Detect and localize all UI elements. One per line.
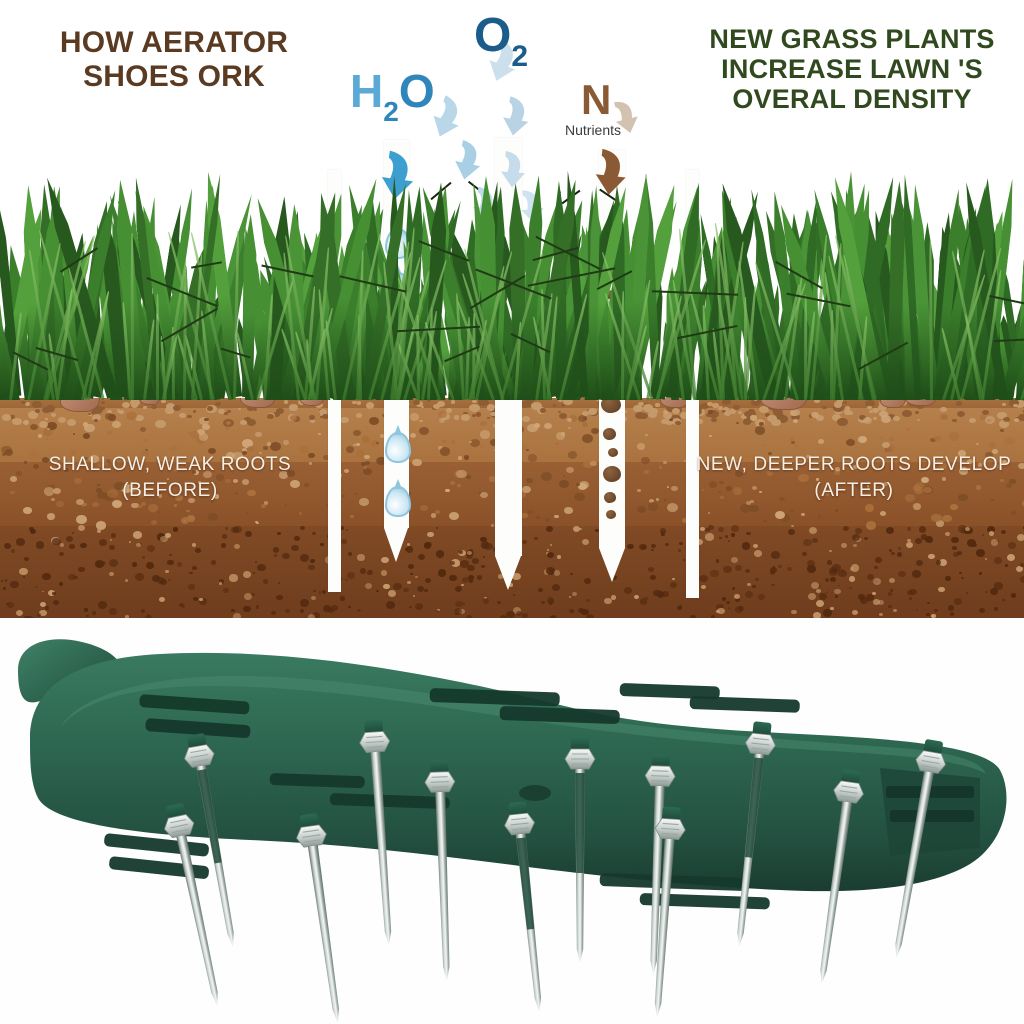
water-label-o: O	[399, 65, 435, 117]
aeration-infographic-panel: SHALLOW, WEAK ROOTS (BEFORE) NEW, DEEPER…	[0, 0, 1024, 618]
water-label-h: H	[350, 65, 383, 117]
flow-arrow	[497, 93, 538, 141]
flow-arrow	[497, 149, 532, 191]
oxygen-label: O2	[474, 8, 528, 74]
spike-shaft	[308, 845, 343, 1024]
grass-blade-highlight	[621, 291, 625, 400]
infographic-page: SHALLOW, WEAK ROOTS (BEFORE) NEW, DEEPER…	[0, 0, 1024, 1024]
water-label-sub: 2	[383, 96, 399, 127]
caption-before: SHALLOW, WEAK ROOTS (BEFORE)	[10, 452, 330, 504]
shoe-strap-slot	[690, 696, 800, 713]
water-label: H2O	[350, 64, 435, 128]
spike-shaft-coating	[575, 773, 584, 873]
oxygen-label-sub: 2	[511, 40, 528, 73]
flow-arrow	[375, 147, 424, 205]
oxygen-label-o: O	[474, 9, 511, 62]
product-photo-aerator-shoe	[0, 618, 1024, 1024]
nutrients-caption: Nutrients	[565, 122, 621, 138]
shoe-oval-hole	[519, 785, 551, 801]
grass-blade-highlight	[156, 294, 159, 400]
caption-after: NEW, DEEPER ROOTS DEVELOP (AFTER)	[694, 452, 1014, 504]
nitrogen-label: N	[581, 76, 611, 124]
aerator-shoe-svg	[0, 618, 1024, 1024]
page-title-right: NEW GRASS PLANTS INCREASE LAWN 'S OVERAL…	[694, 24, 1010, 115]
shoe-flange-slot-2	[890, 810, 974, 822]
page-title-left: HOW AERATOR SHOES ORK	[24, 26, 324, 93]
